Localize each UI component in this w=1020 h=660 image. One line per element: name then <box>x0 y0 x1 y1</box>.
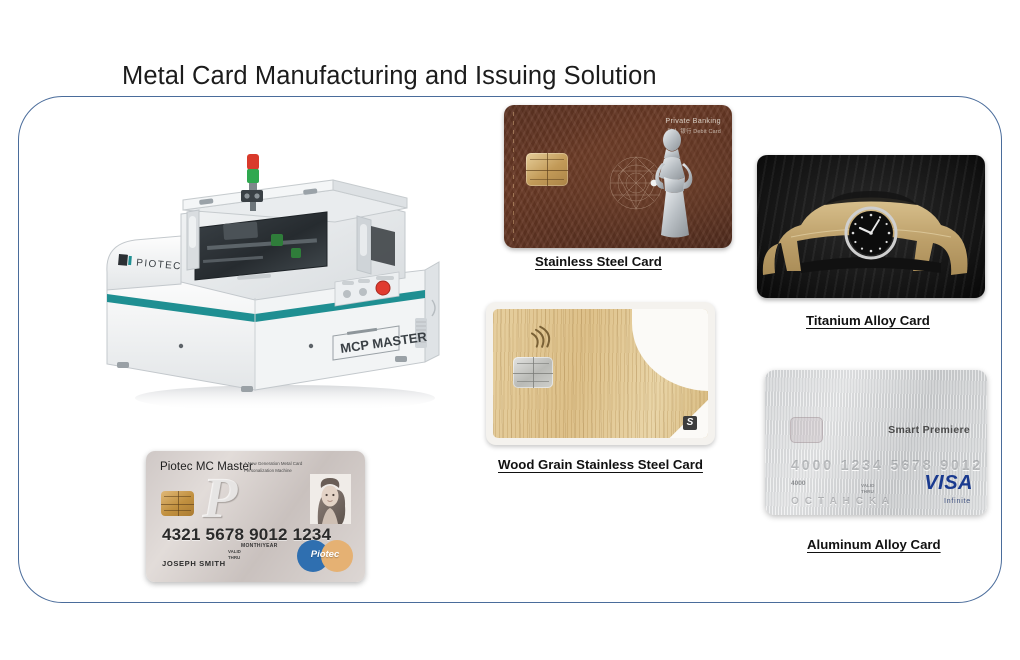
cardholder-name: JOSEPH SMITH <box>162 559 226 568</box>
piotec-logo-text: Piotec <box>297 549 353 560</box>
card-wood-grain-stainless-steel: S <box>486 302 715 445</box>
silver-chip-icon <box>513 357 553 388</box>
visa-logo: VISA <box>924 473 973 493</box>
sports-car-artwork <box>757 155 985 298</box>
leather-stitch-line <box>513 112 514 241</box>
card-aluminum-alloy: Smart Premiere 4000 1234 5678 9012 4000 … <box>765 370 987 515</box>
cardholder-name: O C T A H C K A <box>791 496 891 507</box>
caption-stainless-steel-card: Stainless Steel Card <box>535 254 662 269</box>
card-stainless-steel: Private Banking 私人 银行 Debit Card <box>504 105 732 248</box>
gold-chip-icon <box>526 153 568 186</box>
valid-thru-label: VALIDTHRU <box>228 549 241 560</box>
contactless-icon <box>527 325 553 351</box>
white-swoosh-top <box>632 309 708 391</box>
piotec-logo: Piotec <box>297 540 353 572</box>
caption-titanium-alloy-card: Titanium Alloy Card <box>806 313 930 328</box>
demo-card-title: Piotec MC Master <box>160 461 253 473</box>
valid-thru-label: VALIDTHRU <box>861 483 874 494</box>
card-brand-logo: S <box>683 416 697 430</box>
cardholder-photo <box>310 474 351 524</box>
slide-canvas: Metal Card Manufacturing and Issuing Sol… <box>0 0 1020 660</box>
visa-tier-label: Infinite <box>944 498 971 505</box>
page-title: Metal Card Manufacturing and Issuing Sol… <box>122 62 657 91</box>
embossed-chip-area <box>790 417 823 443</box>
caption-wood-grain-stainless-steel-card: Wood Grain Stainless Steel Card <box>498 457 703 472</box>
caption-aluminum-alloy-card: Aluminum Alloy Card <box>807 537 941 552</box>
card-bin: 4000 <box>791 480 805 487</box>
month-year-label: MONTH/YEAR <box>241 543 278 549</box>
gold-chip-icon <box>161 491 194 516</box>
card-piotec-mc-master: P Piotec MC Master A New Generation Meta… <box>146 451 365 582</box>
female-figure-artwork <box>592 123 722 247</box>
demo-card-subtitle: A New Generation Metal Card Personalizat… <box>244 461 308 474</box>
card-brand-text: Smart Premiere <box>888 424 970 436</box>
p-monogram: P <box>202 469 294 533</box>
card-titanium-alloy <box>757 155 985 298</box>
mcp-master-machine: PIOTEC <box>95 150 465 415</box>
